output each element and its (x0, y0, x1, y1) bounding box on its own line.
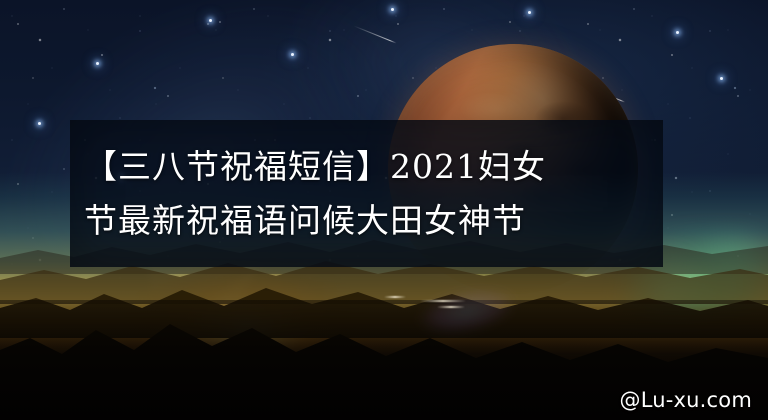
bright-star (209, 19, 212, 22)
bright-star (38, 122, 41, 125)
bright-star (391, 8, 394, 11)
light-streak (437, 306, 465, 308)
site-watermark: @Lu-xu.com (620, 388, 752, 412)
poster-image: 【三八节祝福短信】2021妇女 节最新祝福语问候大田女神节 @Lu-xu.com (0, 0, 768, 420)
headline-block: 【三八节祝福短信】2021妇女 节最新祝福语问候大田女神节 (70, 120, 663, 267)
bright-star (676, 31, 679, 34)
bright-star (291, 53, 294, 56)
headline-line-2: 节最新祝福语问候大田女神节 (84, 194, 526, 248)
bright-star (96, 62, 99, 65)
bright-star (720, 77, 723, 80)
bright-star (528, 11, 531, 14)
light-streak (384, 296, 406, 298)
light-streak (420, 300, 466, 302)
headline-line-1: 【三八节祝福短信】2021妇女 (84, 140, 546, 194)
